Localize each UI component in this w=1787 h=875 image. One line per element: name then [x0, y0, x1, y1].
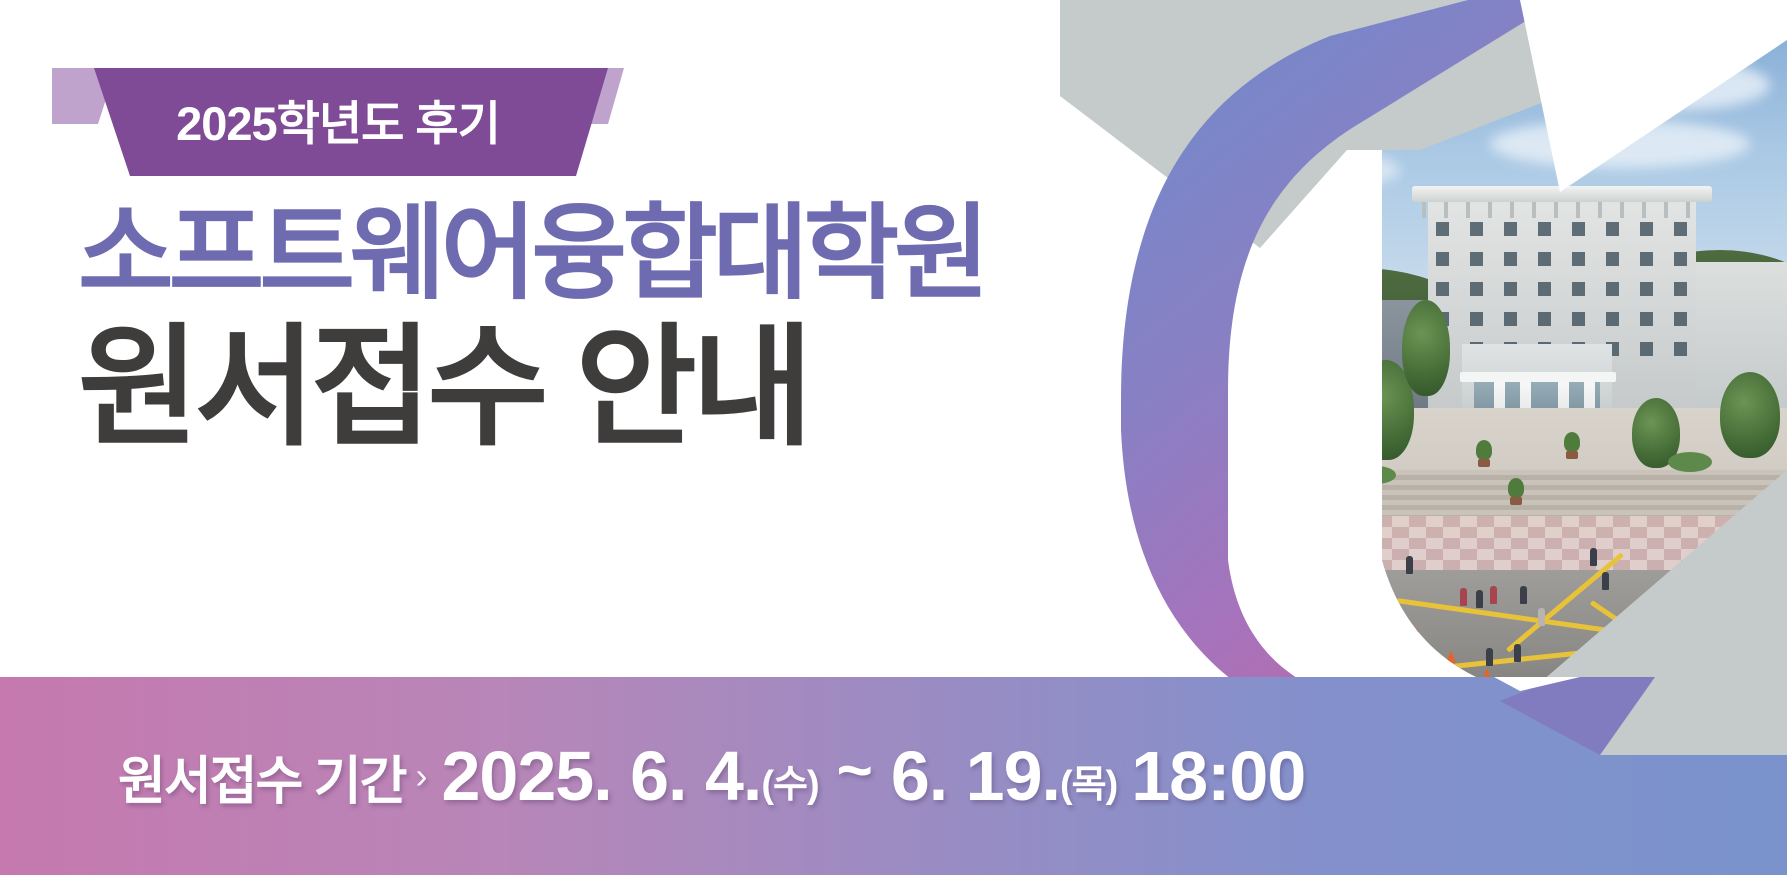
topiary-planter [1508, 478, 1524, 498]
entrance-canopy [1460, 372, 1616, 382]
pedestrian [1406, 556, 1413, 574]
tree [1402, 300, 1450, 396]
topiary-planter [1476, 440, 1492, 460]
tree [1310, 330, 1376, 448]
traffic-cone [1412, 628, 1422, 641]
pedestrian [1490, 586, 1497, 604]
application-period: 원서접수 기간 › 2025. 6. 4. (수) ~ 6. 19. (목) 1… [118, 677, 1305, 875]
pedestrian [1520, 586, 1527, 604]
cloud [1590, 60, 1770, 110]
shrub [1668, 452, 1712, 472]
side-building-windows [1218, 290, 1334, 398]
start-date: 2025. 6. 4. [442, 736, 762, 816]
period-label: 원서접수 기간 [118, 739, 406, 814]
side-building [1212, 272, 1340, 412]
range-symbol: ~ [837, 735, 873, 806]
side-building-roof [1226, 258, 1280, 274]
end-time: 18:00 [1131, 736, 1305, 816]
pedestrian [1486, 648, 1493, 666]
campus-photo-image [1160, 0, 1787, 700]
end-date: 6. 19. [891, 736, 1060, 816]
cloud [1490, 120, 1750, 168]
tree [1720, 372, 1780, 458]
pedestrian [1460, 588, 1467, 606]
pedestrian [1476, 590, 1483, 608]
cloud [1220, 150, 1400, 190]
checkered-pavement [1256, 516, 1787, 576]
shrub [1356, 466, 1396, 484]
year-badge-label: 2025학년도 후기 [48, 62, 628, 182]
headline-block: 소프트웨어융합대학원 원서접수 안내 [78, 196, 1098, 462]
cloud [1410, 14, 1560, 56]
pedestrian [1538, 608, 1545, 626]
pedestrian [1356, 520, 1363, 538]
headline-line-1: 소프트웨어융합대학원 [78, 196, 1098, 312]
shrub [1300, 452, 1334, 470]
chevron-right-icon: › [416, 755, 428, 797]
plaza-steps [1290, 470, 1787, 516]
date-bar: 원서접수 기간 › 2025. 6. 4. (수) ~ 6. 19. (목) 1… [0, 677, 1787, 875]
end-day-of-week: (목) [1060, 753, 1117, 808]
main-building-roof [1412, 186, 1712, 202]
roof-truss [1422, 202, 1702, 218]
campus-photo [1160, 0, 1787, 700]
admissions-banner: 2025학년도 후기 소프트웨어융합대학원 원서접수 안내 원서접수 기간 › … [0, 0, 1787, 875]
year-badge: 2025학년도 후기 [48, 62, 628, 182]
headline-line-2: 원서접수 안내 [78, 314, 1098, 462]
pedestrian [1374, 528, 1381, 546]
tree [1184, 340, 1254, 470]
pedestrian [1590, 548, 1597, 566]
tree [1256, 372, 1328, 480]
start-day-of-week: (수) [761, 753, 818, 808]
traffic-cone [1446, 650, 1456, 663]
topiary-planter [1564, 432, 1580, 452]
pedestrian [1602, 572, 1609, 590]
pedestrian [1514, 644, 1521, 662]
